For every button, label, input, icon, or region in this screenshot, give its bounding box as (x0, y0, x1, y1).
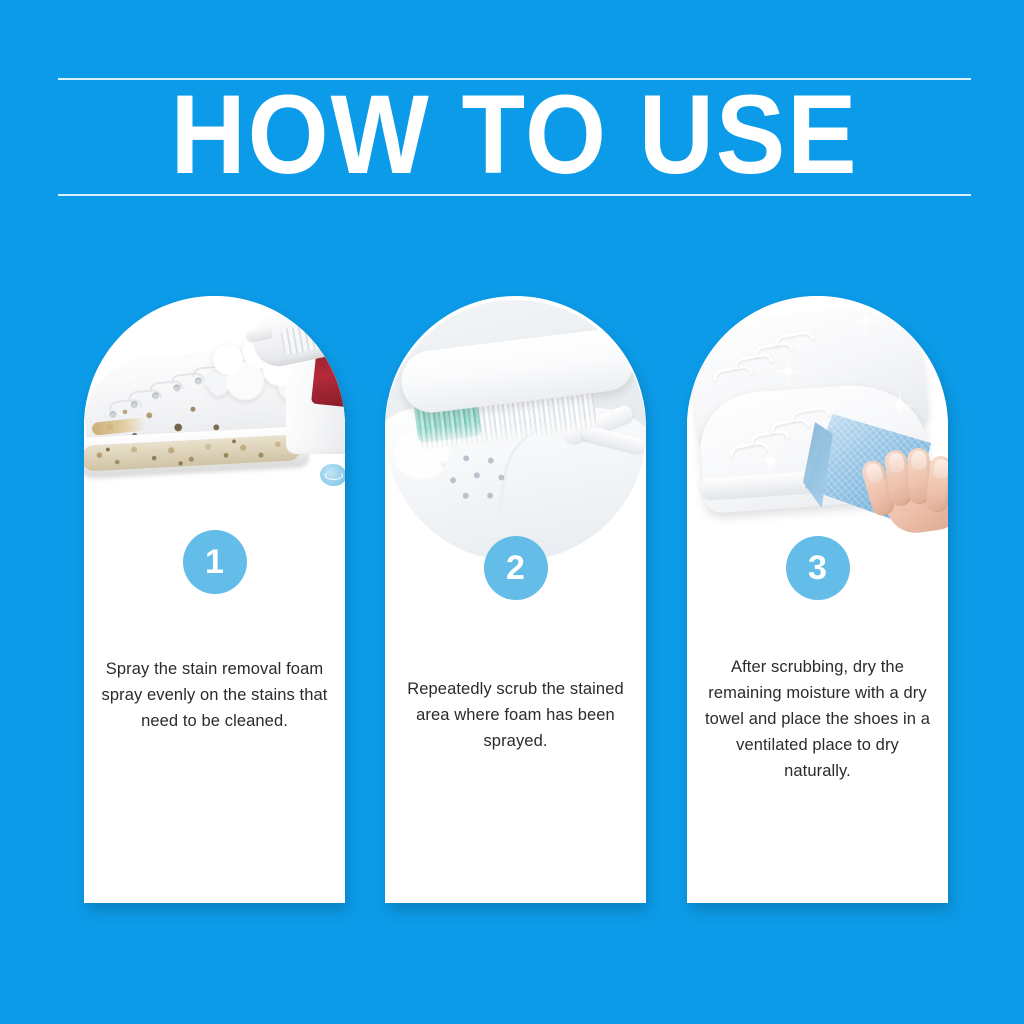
hand-icon (863, 438, 948, 534)
step-number-badge-2: 2 (484, 536, 548, 600)
step-description-3: After scrubbing, dry the remaining moist… (703, 654, 932, 784)
step-3-image (687, 296, 948, 546)
header-bottom-rule (58, 194, 971, 196)
step-1-image (84, 296, 345, 546)
steps-container: 1 Spray the stain removal foam spray eve… (0, 296, 1024, 916)
step-description-1: Spray the stain removal foam spray evenl… (100, 656, 329, 734)
step-2-image (385, 296, 646, 546)
step-description-2: Repeatedly scrub the stained area where … (401, 676, 630, 754)
step-card-3[interactable]: 3 After scrubbing, dry the remaining moi… (687, 296, 948, 903)
spray-bottle-icon (252, 306, 345, 456)
step-card-1[interactable]: 1 Spray the stain removal foam spray eve… (84, 296, 345, 903)
step-number-badge-1: 1 (183, 530, 247, 594)
poster-canvas: HOW TO USE (0, 0, 1024, 1024)
step-card-2[interactable]: 2 Repeatedly scrub the stained area wher… (385, 296, 646, 903)
brand-mark-icon (320, 464, 345, 486)
step-number-badge-3: 3 (786, 536, 850, 600)
header: HOW TO USE (58, 70, 971, 196)
page-title: HOW TO USE (90, 76, 939, 194)
